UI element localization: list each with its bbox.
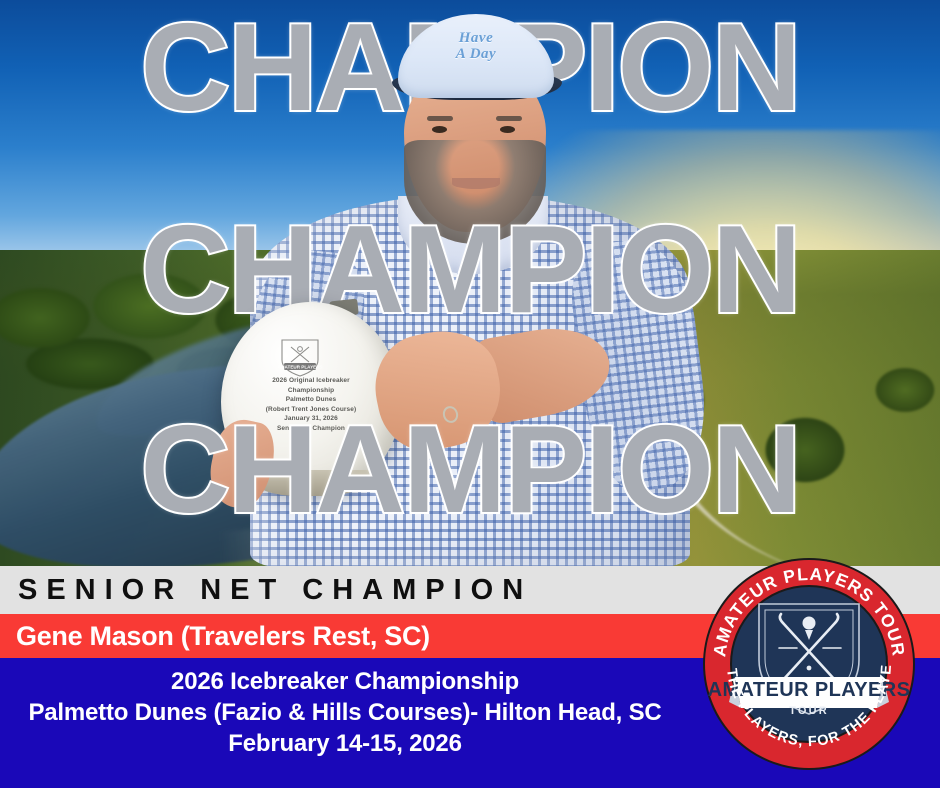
watermark-champion-2: CHAMPION (0, 208, 940, 332)
event-line-1: 2026 Icebreaker Championship (0, 666, 690, 697)
cap-logo-text: Have A Day (398, 30, 554, 62)
eyebrow-left (427, 116, 453, 121)
winner-name: Gene Mason (Travelers Rest, SC) (0, 621, 430, 652)
plaque-line-1: 2026 Original Icebreaker (226, 376, 396, 386)
category-title: SENIOR NET CHAMPION (0, 574, 532, 607)
plaque-line-2: Championship (226, 386, 396, 396)
plaque-apt-shield-icon: AMATEUR PLAYERS (268, 336, 332, 378)
svg-text:AMATEUR PLAYERS: AMATEUR PLAYERS (277, 364, 322, 369)
cap-logo-line-1: Have (398, 30, 554, 46)
watermark-champion-3: CHAMPION (0, 408, 940, 532)
cap-logo-line-2: A Day (398, 46, 554, 62)
champion-poster: CHAMPION Have A Day CHAMPION (0, 0, 940, 788)
eye-right (500, 126, 515, 133)
photo-background: CHAMPION Have A Day CHAMPION (0, 0, 940, 566)
eye-left (432, 126, 447, 133)
event-line-3: February 14-15, 2026 (0, 728, 690, 759)
event-details: 2026 Icebreaker Championship Palmetto Du… (0, 666, 690, 759)
eyebrow-right (496, 116, 522, 121)
amateur-players-tour-seal-logo: AMATEUR PLAYERS TOUR AMATEUR PLAYERS TOU… (701, 556, 917, 772)
seal-ribbon-sub: TOUR (789, 705, 829, 717)
mouth (452, 178, 500, 189)
event-line-2: Palmetto Dunes (Fazio & Hills Courses)- … (0, 697, 690, 728)
